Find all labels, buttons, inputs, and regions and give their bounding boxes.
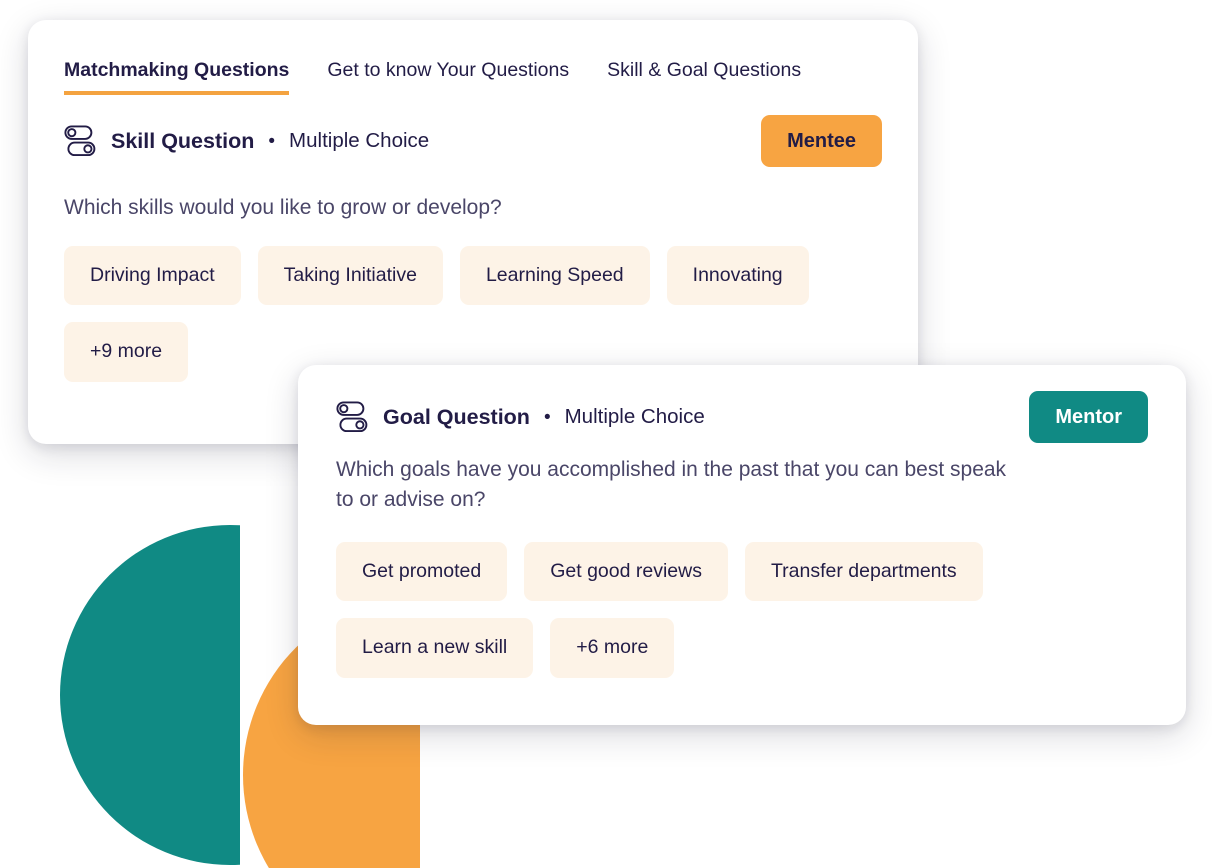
chip-option[interactable]: Get promoted (336, 542, 507, 602)
header-separator-dot: • (268, 132, 275, 151)
goal-question-body: Goal Question • Multiple Choice Mentor W… (298, 365, 1186, 678)
skill-question-header: Skill Question • Multiple Choice Mentee (64, 125, 882, 157)
tab-get-to-know-your-questions[interactable]: Get to know Your Questions (327, 58, 569, 91)
goal-question-header: Goal Question • Multiple Choice Mentor (336, 401, 1148, 433)
mentor-role-badge[interactable]: Mentor (1029, 391, 1148, 443)
teal-circle-clip (0, 490, 240, 868)
skill-answer-chips: Driving Impact Taking Initiative Learnin… (64, 246, 882, 382)
goal-question-format-label: Multiple Choice (565, 405, 705, 429)
skill-question-body: Skill Question • Multiple Choice Mentee … (28, 95, 918, 381)
tab-bar: Matchmaking Questions Get to know Your Q… (28, 20, 918, 95)
goal-question-type-label: Goal Question (383, 405, 530, 430)
skill-question-format-label: Multiple Choice (289, 129, 429, 153)
toggle-list-icon (64, 125, 98, 157)
chip-more-count[interactable]: +6 more (550, 618, 674, 678)
chip-option[interactable]: Taking Initiative (258, 246, 443, 306)
chip-option[interactable]: Learning Speed (460, 246, 650, 306)
skill-question-text: Which skills would you like to grow or d… (64, 193, 882, 223)
mentee-role-badge[interactable]: Mentee (761, 115, 882, 167)
toggle-list-icon (336, 401, 370, 433)
tab-skill-and-goal-questions[interactable]: Skill & Goal Questions (607, 58, 801, 91)
chip-option[interactable]: Learn a new skill (336, 618, 533, 678)
chip-option[interactable]: Innovating (667, 246, 809, 306)
goal-question-card: Goal Question • Multiple Choice Mentor W… (298, 365, 1186, 725)
skill-question-type-label: Skill Question (111, 129, 254, 154)
chip-more-count[interactable]: +9 more (64, 322, 188, 382)
header-separator-dot: • (544, 408, 551, 427)
chip-option[interactable]: Get good reviews (524, 542, 728, 602)
teal-half-circle (60, 525, 240, 865)
tab-matchmaking-questions[interactable]: Matchmaking Questions (64, 58, 289, 95)
goal-answer-chips: Get promoted Get good reviews Transfer d… (336, 542, 1148, 678)
chip-option[interactable]: Driving Impact (64, 246, 241, 306)
goal-question-text: Which goals have you accomplished in the… (336, 455, 1026, 516)
chip-option[interactable]: Transfer departments (745, 542, 983, 602)
